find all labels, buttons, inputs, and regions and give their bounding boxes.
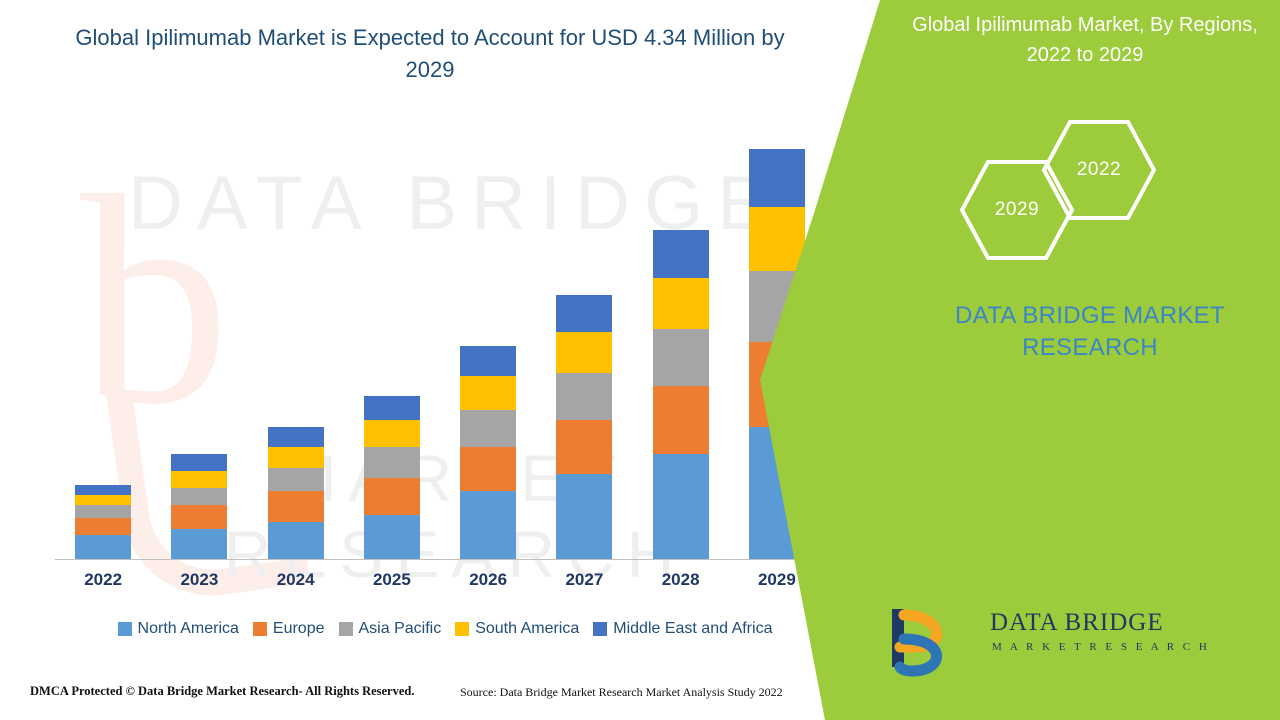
copyright-text: DMCA Protected © Data Bridge Market Rese… xyxy=(30,684,415,699)
company-logo: DATA BRIDGE M A R K E T R E S E A R C H xyxy=(870,605,1270,685)
segment-asia-pacific xyxy=(268,468,324,492)
legend-label: Asia Pacific xyxy=(359,620,442,638)
legend-label: North America xyxy=(138,620,239,638)
segment-north-america xyxy=(171,529,227,559)
legend-swatch-icon xyxy=(593,622,607,636)
segment-asia-pacific xyxy=(653,329,709,387)
x-label-2024: 2024 xyxy=(248,570,344,590)
segment-north-america xyxy=(460,491,516,559)
brand-line-2: RESEARCH xyxy=(910,332,1270,364)
legend-item-south-america[interactable]: South America xyxy=(455,620,579,638)
segment-middle-east-and-africa xyxy=(75,485,131,495)
legend-item-asia-pacific[interactable]: Asia Pacific xyxy=(339,620,442,638)
legend-label: South America xyxy=(475,620,579,638)
bar-2026 xyxy=(460,346,516,559)
bar-2024 xyxy=(268,427,324,559)
panel-title: Global Ipilimumab Market, By Regions, 20… xyxy=(910,10,1260,70)
legend-item-europe[interactable]: Europe xyxy=(253,620,325,638)
legend-swatch-icon xyxy=(118,622,132,636)
legend-item-north-america[interactable]: North America xyxy=(118,620,239,638)
x-label-2026: 2026 xyxy=(440,570,536,590)
x-label-2027: 2027 xyxy=(536,570,632,590)
x-label-2022: 2022 xyxy=(55,570,151,590)
legend-swatch-icon xyxy=(339,622,353,636)
page-title: Global Ipilimumab Market is Expected to … xyxy=(60,22,800,86)
x-label-2025: 2025 xyxy=(344,570,440,590)
chart-legend: North AmericaEuropeAsia PacificSouth Ame… xyxy=(55,616,835,642)
hexagon-badges: 2029 2022 xyxy=(958,130,1258,260)
segment-middle-east-and-africa xyxy=(364,396,420,420)
segment-south-america xyxy=(460,376,516,410)
bar-2028 xyxy=(653,230,709,559)
hexagon-2029-label: 2029 xyxy=(995,199,1039,221)
segment-asia-pacific xyxy=(171,488,227,505)
segment-middle-east-and-africa xyxy=(460,346,516,376)
hexagon-2022: 2022 xyxy=(1040,118,1158,222)
segment-south-america xyxy=(653,278,709,329)
segment-europe xyxy=(653,386,709,454)
source-text: Source: Data Bridge Market Research Mark… xyxy=(460,685,783,700)
segment-middle-east-and-africa xyxy=(268,427,324,447)
segment-north-america xyxy=(364,515,420,559)
segment-europe xyxy=(460,447,516,491)
segment-middle-east-and-africa xyxy=(653,230,709,277)
segment-europe xyxy=(364,478,420,515)
hexagon-2022-label: 2022 xyxy=(1077,159,1121,181)
stacked-bar-chart xyxy=(55,150,825,560)
segment-europe xyxy=(75,518,131,535)
segment-asia-pacific xyxy=(364,447,420,477)
segment-europe xyxy=(556,420,612,474)
segment-middle-east-and-africa xyxy=(171,454,227,471)
segment-south-america xyxy=(268,447,324,467)
brand-name: DATA BRIDGE MARKET RESEARCH xyxy=(910,300,1270,364)
segment-south-america xyxy=(171,471,227,488)
x-axis-line xyxy=(55,559,825,560)
segment-europe xyxy=(268,491,324,521)
segment-south-america xyxy=(75,495,131,505)
segment-asia-pacific xyxy=(75,505,131,519)
segment-north-america xyxy=(653,454,709,559)
segment-north-america xyxy=(268,522,324,559)
legend-label: Middle East and Africa xyxy=(613,620,772,638)
segment-middle-east-and-africa xyxy=(556,295,612,332)
bar-2027 xyxy=(556,295,612,559)
segment-north-america xyxy=(75,535,131,559)
legend-label: Europe xyxy=(273,620,325,638)
db-logo-icon xyxy=(870,605,980,677)
segment-asia-pacific xyxy=(460,410,516,447)
legend-item-middle-east-and-africa[interactable]: Middle East and Africa xyxy=(593,620,772,638)
segment-south-america xyxy=(556,332,612,373)
bar-2022 xyxy=(75,484,131,559)
segment-south-america xyxy=(364,420,420,447)
brand-line-1: DATA BRIDGE MARKET xyxy=(910,300,1270,332)
legend-swatch-icon xyxy=(455,622,469,636)
segment-north-america xyxy=(556,474,612,559)
segment-asia-pacific xyxy=(556,373,612,420)
bar-2023 xyxy=(171,454,227,559)
x-axis-labels: 20222023202420252026202720282029 xyxy=(55,570,825,598)
logo-name: DATA BRIDGE xyxy=(990,609,1164,637)
bar-2025 xyxy=(364,396,420,559)
x-label-2023: 2023 xyxy=(151,570,247,590)
x-label-2028: 2028 xyxy=(633,570,729,590)
logo-tagline: M A R K E T R E S E A R C H xyxy=(992,641,1210,653)
segment-europe xyxy=(171,505,227,529)
right-panel: Global Ipilimumab Market, By Regions, 20… xyxy=(760,0,1280,720)
legend-swatch-icon xyxy=(253,622,267,636)
